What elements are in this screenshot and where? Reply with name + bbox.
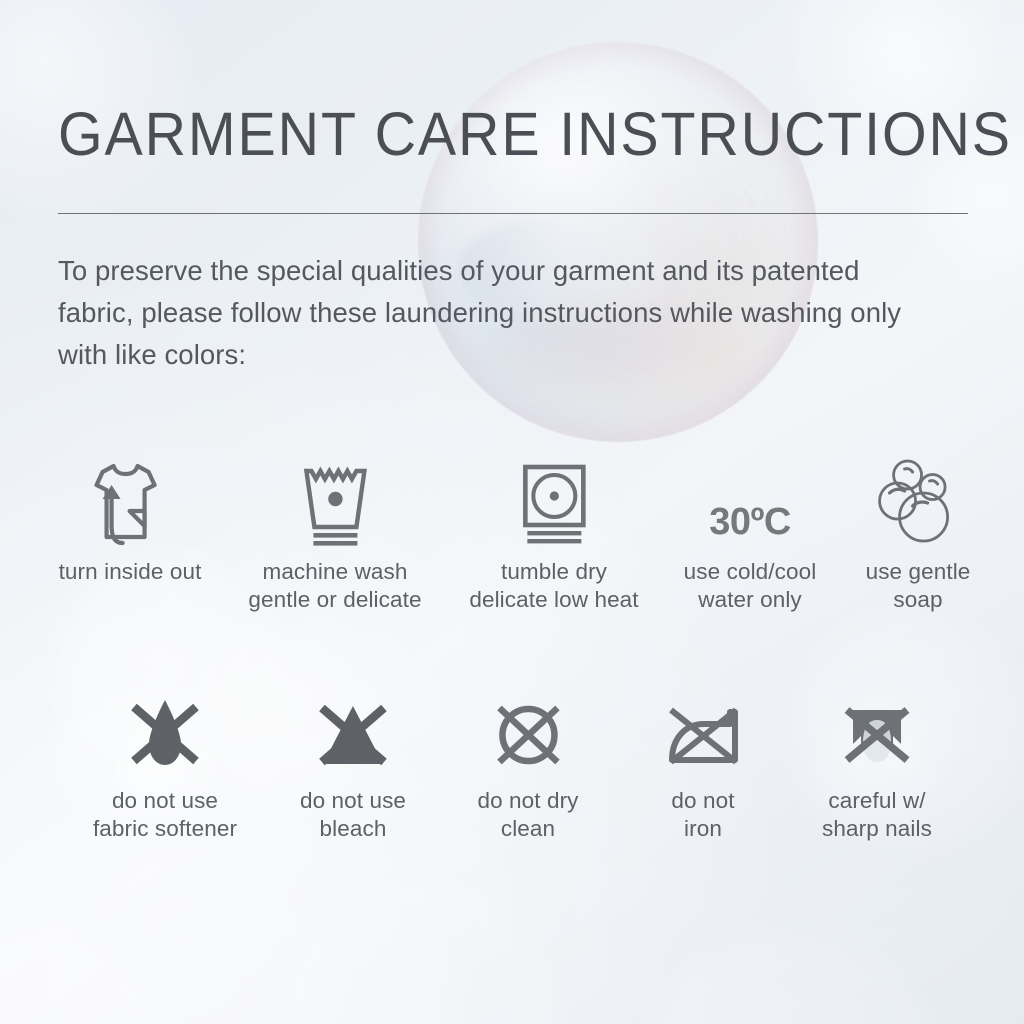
- soap-bubbles-icon: [866, 455, 971, 547]
- no-bleach-icon: [300, 684, 406, 776]
- garment-care-poster: GARMENT CARE INSTRUCTIONS To preserve th…: [0, 0, 1024, 1024]
- no-iron-icon: [656, 684, 750, 776]
- poster-content: GARMENT CARE INSTRUCTIONS To preserve th…: [0, 0, 1024, 1024]
- intro-paragraph: To preserve the special qualities of you…: [58, 250, 938, 376]
- care-item-no-dry-clean: do not dry clean: [477, 684, 578, 843]
- page-title: GARMENT CARE INSTRUCTIONS: [58, 104, 912, 165]
- machine-wash-gentle-icon: [248, 455, 421, 547]
- no-sharp-nails-icon: [822, 684, 932, 776]
- care-item-no-iron: do not iron: [656, 684, 750, 843]
- care-item-caption: machine wash gentle or delicate: [248, 558, 421, 614]
- temperature-label: 30ºC: [709, 503, 791, 547]
- care-item-caption: tumble dry delicate low heat: [469, 558, 638, 614]
- care-item-gentle-soap: use gentle soap: [866, 455, 971, 614]
- care-item-turn-inside-out: turn inside out: [59, 455, 202, 586]
- tumble-dry-low-heat-icon: [469, 455, 638, 547]
- care-item-caption: do not dry clean: [477, 787, 578, 843]
- care-item-caption: do not iron: [656, 787, 750, 843]
- no-dry-clean-icon: [477, 684, 578, 776]
- care-item-machine-wash: machine wash gentle or delicate: [248, 455, 421, 614]
- care-row-1: turn inside out: [0, 455, 1024, 670]
- care-item-no-bleach: do not use bleach: [300, 684, 406, 843]
- care-item-caption: turn inside out: [59, 558, 202, 586]
- care-item-caption: do not use fabric softener: [93, 787, 237, 843]
- care-item-caption: careful w/ sharp nails: [822, 787, 932, 843]
- care-item-sharp-nails: careful w/ sharp nails: [822, 684, 932, 843]
- title-divider: [58, 213, 968, 214]
- care-item-tumble-dry: tumble dry delicate low heat: [469, 455, 638, 614]
- care-item-caption: use gentle soap: [866, 558, 971, 614]
- care-item-cold-water: 30ºC use cold/cool water only: [684, 455, 817, 614]
- care-icon-grid: turn inside out: [0, 455, 1024, 899]
- temperature-30c-text: 30ºC: [684, 455, 817, 547]
- care-row-2: do not use fabric softener: [0, 684, 1024, 899]
- care-item-caption: do not use bleach: [300, 787, 406, 843]
- care-item-no-fabric-softener: do not use fabric softener: [93, 684, 237, 843]
- care-item-caption: use cold/cool water only: [684, 558, 817, 614]
- no-fabric-softener-icon: [93, 684, 237, 776]
- tshirt-turn-inside-out-icon: [59, 455, 202, 547]
